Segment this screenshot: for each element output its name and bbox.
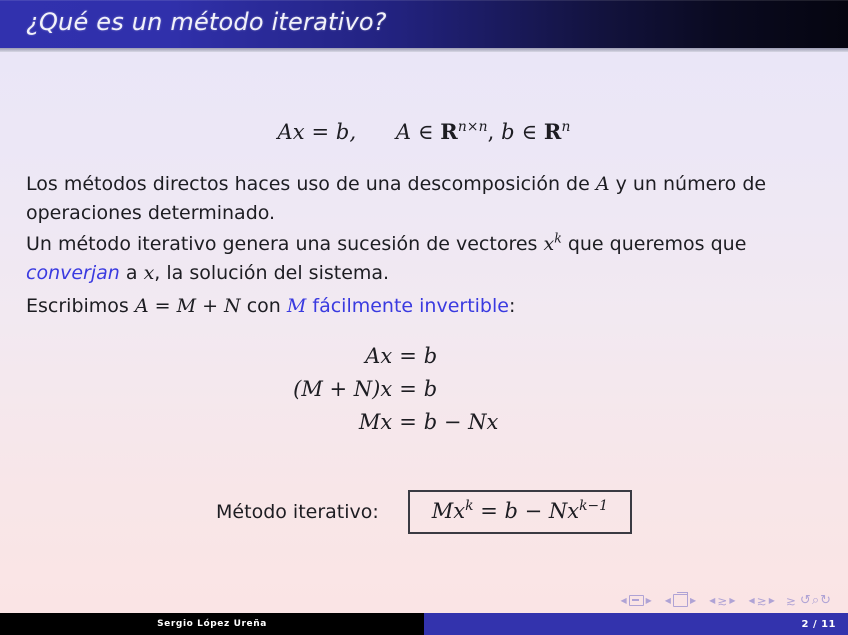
back-and-search-icons[interactable]: ↺⌕↻ — [800, 593, 832, 608]
p3-equation-splitting: A = M + N — [135, 295, 241, 317]
presentation-icon[interactable]: ≳ — [786, 595, 796, 607]
next-frame-icon[interactable]: ▶ — [688, 596, 698, 605]
equation-derivation-block: Ax = b (M + N)x = b Mx = b − Nx — [0, 344, 848, 443]
blackboard-R-1: R — [440, 119, 458, 144]
page-title: ¿Qué es un método iterativo? — [26, 8, 387, 36]
eq2-lhs: (M + N)x — [244, 377, 399, 401]
p2-text-c: a — [120, 262, 144, 284]
nav-slide-group[interactable]: ◀ ▶ — [618, 595, 653, 606]
exponent-n: n — [561, 119, 570, 135]
p2-text-a: Un método iterativo genera una sucesión … — [26, 233, 543, 255]
nav-section-group[interactable]: ◀ ≳ ▶ — [746, 595, 776, 607]
frame-icon[interactable] — [673, 594, 688, 607]
eq3-rhs: b − Nx — [417, 410, 604, 434]
eq1-lhs: Ax — [244, 344, 399, 368]
p3-text-c: : — [509, 295, 515, 317]
paragraph-direct-methods: Los métodos directos haces uso de una de… — [26, 170, 826, 228]
p3-text-b: con — [241, 295, 287, 317]
p2-highlight-converjan: converjan — [26, 262, 120, 284]
exponent-n-by-n: n×n — [458, 119, 488, 135]
eq2-rhs: b — [417, 377, 604, 401]
eq2-relation: = — [399, 377, 417, 401]
p2-exponent-k: k — [554, 231, 562, 246]
boxed-rhs: b − Nx — [505, 499, 580, 523]
next-section-icon[interactable]: ▶ — [767, 596, 777, 605]
slide-icon[interactable] — [629, 595, 644, 606]
slide-content: Ax = b, A ∈ Rn×n, b ∈ Rn Los métodos dir… — [0, 52, 848, 567]
nav-frame-group[interactable]: ◀ ▶ — [663, 594, 698, 607]
equation-row-2: (M + N)x = b — [0, 377, 848, 410]
iterative-method-result: Método iterativo: Mxk = b − Nxk−1 — [0, 490, 848, 534]
blackboard-R-2: R — [544, 119, 562, 144]
eq3-relation: = — [399, 410, 417, 434]
p2-variable-x: x — [543, 233, 554, 255]
nav-subsection-group[interactable]: ◀ ≳ ▶ — [707, 595, 737, 607]
footer-author: Sergio López Ureña — [157, 619, 267, 629]
footer-author-section: Sergio López Ureña — [0, 613, 424, 635]
equation-system-definition: Ax = b, A ∈ Rn×n, b ∈ Rn — [0, 119, 848, 144]
eq3-lhs: Mx — [244, 410, 399, 434]
paragraph-splitting: Escribimos A = M + N con M fácilmente in… — [26, 292, 826, 321]
p2-text-d: , la solución del sistema. — [154, 262, 389, 284]
section-icon[interactable]: ≳ — [757, 595, 767, 607]
frame-title-bar: ¿Qué es un método iterativo? — [0, 0, 848, 48]
footer-page-section: 2 / 11 — [424, 613, 848, 635]
p3-highlight-invertible: fácilmente invertible — [306, 295, 509, 317]
equation-row-3: Mx = b − Nx — [0, 410, 848, 443]
paragraph-iterative-method: Un método iterativo genera una sucesión … — [26, 230, 826, 288]
next-slide-icon[interactable]: ▶ — [644, 596, 654, 605]
boxed-lhs-exponent: k — [465, 498, 473, 514]
eq1-rhs: b — [417, 344, 604, 368]
result-label: Método iterativo: — [216, 501, 379, 523]
p2-text-b: que queremos que — [562, 233, 747, 255]
page-number: 2 / 11 — [802, 619, 837, 630]
prev-subsection-icon[interactable]: ◀ — [707, 596, 717, 605]
next-subsection-icon[interactable]: ▶ — [727, 596, 737, 605]
beamer-navigation-symbols[interactable]: ◀ ▶ ◀ ▶ ◀ ≳ ▶ ◀ ≳ ▶ ≳ ↺⌕↻ — [618, 593, 832, 608]
p2-variable-x2: x — [144, 262, 155, 284]
boxed-lhs: Mx — [432, 499, 465, 523]
eq1-relation: = — [399, 344, 417, 368]
equation-comma: , — [488, 120, 502, 144]
slide-footer: Sergio López Ureña 2 / 11 — [0, 613, 848, 635]
equation-row-1: Ax = b — [0, 344, 848, 377]
p1-text-a: Los métodos directos haces uso de una de… — [26, 173, 596, 195]
boxed-equation: Mxk = b − Nxk−1 — [408, 490, 632, 534]
equation-A-in: A ∈ — [396, 120, 440, 144]
p1-variable-A: A — [596, 173, 610, 195]
presentation-slide: ¿Qué es un método iterativo? Ax = b, A ∈… — [0, 0, 848, 635]
subsection-icon[interactable]: ≳ — [717, 595, 727, 607]
boxed-relation: = — [474, 499, 505, 523]
prev-slide-icon[interactable]: ◀ — [618, 596, 628, 605]
equation-ax-b: Ax = b, — [277, 120, 356, 144]
boxed-rhs-exponent: k−1 — [579, 498, 608, 514]
p3-highlight-variable-M: M — [287, 295, 306, 317]
prev-section-icon[interactable]: ◀ — [746, 596, 756, 605]
equation-b-in: b ∈ — [501, 120, 544, 144]
p3-text-a: Escribimos — [26, 295, 135, 317]
prev-frame-icon[interactable]: ◀ — [663, 596, 673, 605]
